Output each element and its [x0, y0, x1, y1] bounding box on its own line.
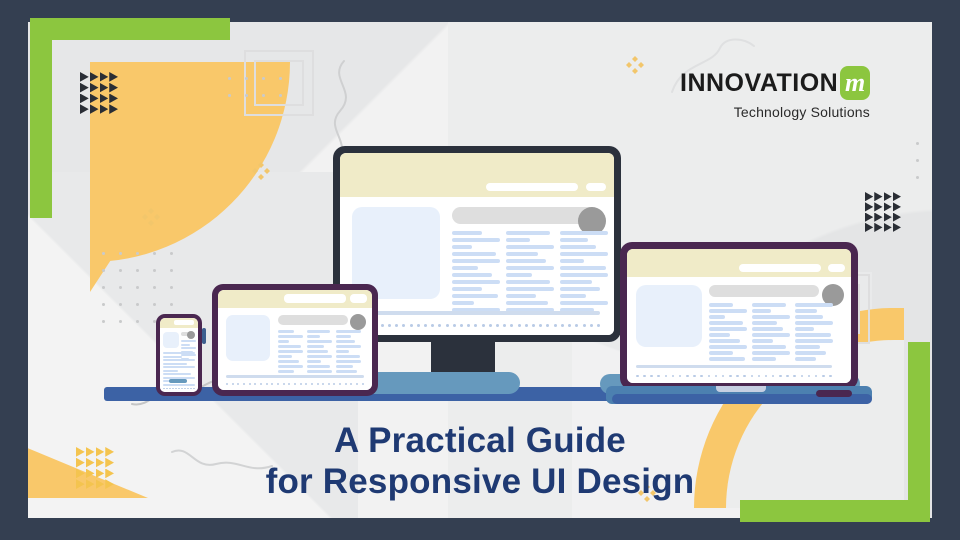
tablet-screen — [218, 290, 372, 390]
avatar — [350, 314, 366, 330]
content-image-block — [636, 285, 702, 347]
content-title-bar — [278, 315, 348, 325]
logo-tagline: Technology Solutions — [680, 104, 870, 120]
brand-logo: INNOVATION m Technology Solutions — [680, 66, 870, 120]
content-title-bar — [452, 207, 598, 224]
content-dot-row — [352, 324, 600, 327]
logo-wordmark-row: INNOVATION m — [680, 66, 870, 100]
bracket-arm-horizontal — [30, 18, 230, 40]
phone-side-button — [202, 328, 206, 344]
phone-device — [156, 314, 202, 396]
logo-m-mark: m — [840, 66, 870, 100]
screen-header-bar — [218, 290, 372, 308]
content-divider — [226, 375, 364, 378]
screen-header-bar — [160, 318, 198, 328]
content-divider — [352, 311, 600, 315]
header-pill — [284, 294, 346, 303]
header-pill — [739, 264, 821, 272]
poster-canvas: INNOVATION m Technology Solutions A Prac… — [0, 0, 960, 540]
logo-wordmark: INNOVATION — [680, 71, 838, 96]
content-image-block — [163, 332, 179, 348]
screen-content — [218, 308, 372, 390]
screen-content — [340, 197, 614, 335]
corner-bracket-bottom-right — [740, 342, 930, 522]
content-dot-row — [226, 383, 364, 385]
screen-header-bar — [627, 249, 851, 277]
content-title-bar — [709, 285, 819, 297]
header-pill — [828, 264, 845, 272]
screen-header-bar — [340, 153, 614, 197]
header-pill — [350, 294, 367, 303]
bracket-arm-vertical — [908, 342, 930, 522]
content-columns — [278, 330, 362, 378]
tablet-device — [212, 284, 378, 396]
phone-home-button — [169, 379, 187, 383]
bracket-arm-vertical — [30, 18, 52, 218]
bracket-arm-horizontal — [740, 500, 930, 522]
header-pill — [486, 183, 578, 191]
content-image-block — [226, 315, 270, 361]
header-pill — [586, 183, 606, 191]
corner-bracket-top-left — [30, 18, 230, 218]
monitor-screen — [340, 153, 614, 335]
avatar — [187, 331, 195, 339]
header-pill — [174, 320, 194, 325]
content-dot-row — [163, 388, 195, 390]
logo-m-letter: m — [845, 70, 865, 96]
content-columns — [452, 231, 610, 312]
